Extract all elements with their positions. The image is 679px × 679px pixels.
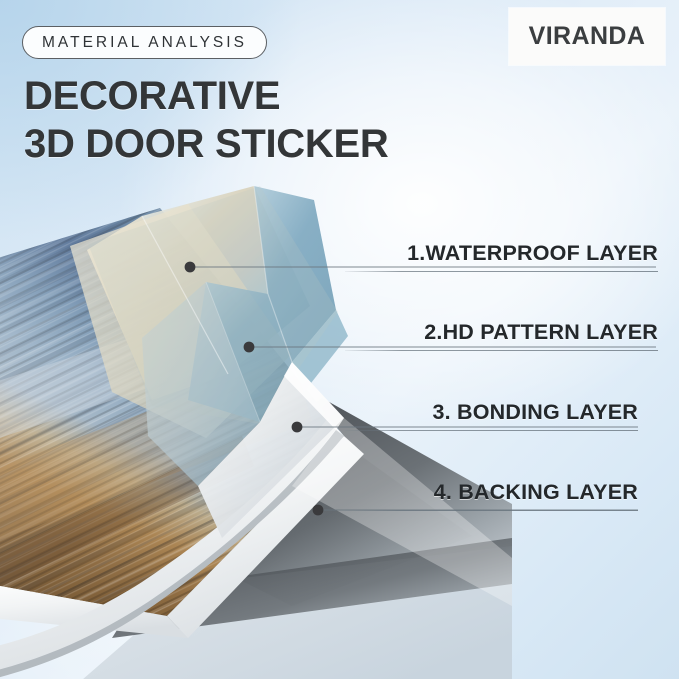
badge-label: MATERIAL ANALYSIS [42, 34, 247, 52]
callout-underline-2 [345, 350, 658, 351]
callout-underline-1 [345, 271, 658, 272]
brand-name: VIRANDA [529, 22, 646, 51]
infographic-canvas: MATERIAL ANALYSIS DECORATIVE 3D DOOR STI… [0, 0, 679, 679]
callout-waterproof-layer: 1.WATERPROOF LAYER [345, 243, 658, 272]
callout-backing-layer: 4. BACKING LAYER [345, 482, 638, 511]
material-analysis-badge: MATERIAL ANALYSIS [22, 26, 267, 59]
page-title-line-1: DECORATIVE [24, 72, 544, 120]
page-title: DECORATIVE 3D DOOR STICKER [24, 72, 544, 168]
callout-underline-4 [345, 510, 638, 511]
brand-logo: VIRANDA [509, 8, 665, 65]
callout-label-4: 4. BACKING LAYER [345, 482, 638, 504]
callout-underline-3 [345, 430, 638, 431]
page-title-line-2: 3D DOOR STICKER [24, 120, 544, 168]
callout-bonding-layer: 3. BONDING LAYER [345, 402, 638, 431]
callout-label-1: 1.WATERPROOF LAYER [345, 243, 658, 265]
callout-hd-pattern-layer: 2.HD PATTERN LAYER [345, 322, 658, 351]
callout-label-2: 2.HD PATTERN LAYER [345, 322, 658, 344]
callout-label-3: 3. BONDING LAYER [345, 402, 638, 424]
